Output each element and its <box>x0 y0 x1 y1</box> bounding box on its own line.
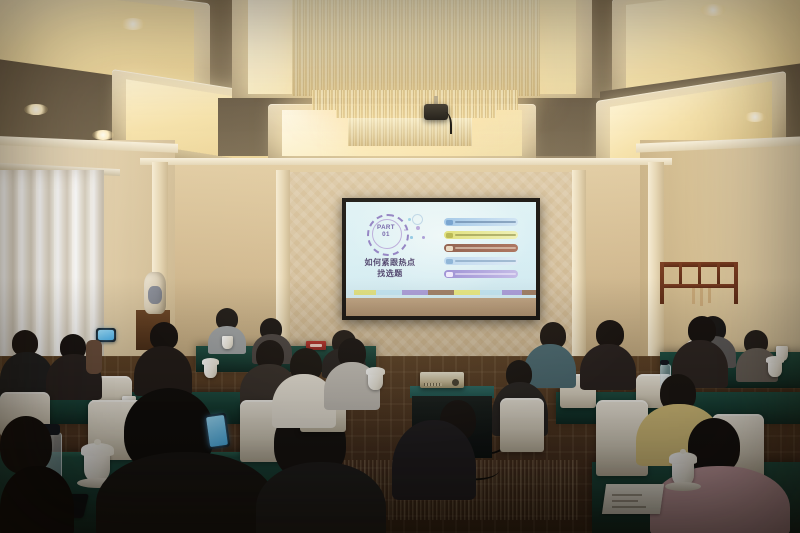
chandelier-crystals-tier3 <box>336 106 496 118</box>
slide-deco-dot-5 <box>404 229 406 231</box>
slide-item-text-4 <box>455 260 516 262</box>
slide-item-text-2 <box>455 234 516 236</box>
slide-list-item-5[interactable] <box>444 270 518 278</box>
screen-lower-panel <box>346 298 536 316</box>
projector-vent <box>424 383 442 386</box>
crystal-chandelier-main <box>292 0 540 96</box>
teacup-knob-foreground <box>94 439 101 445</box>
downlight-1 <box>120 18 146 30</box>
clothes-hanger-2[interactable] <box>700 288 703 306</box>
coat-rack-post-right <box>734 262 738 304</box>
crystal-chandelier-second <box>348 118 472 146</box>
teacup-lid-mid-right <box>766 356 784 363</box>
downlight-5 <box>744 112 766 122</box>
footer-bar-3 <box>376 290 402 295</box>
slide-item-badge-2 <box>446 233 453 238</box>
chandelier-sheen-second <box>348 118 472 146</box>
footer-bar-2 <box>354 290 376 295</box>
slide-list-item-1[interactable] <box>444 218 518 226</box>
attendee-mr1 <box>524 344 576 388</box>
teacup-knob-front-right <box>680 449 686 454</box>
saucer-front-right <box>665 482 701 491</box>
footer-bar-4 <box>402 290 428 295</box>
photographer-arm <box>86 340 102 374</box>
slide-item-text-5 <box>455 273 516 275</box>
chandelier-sheen <box>292 0 540 96</box>
slide-item-text-3 <box>455 247 516 249</box>
notebook-line-2 <box>612 500 638 502</box>
pilaster-screen-right <box>572 170 586 360</box>
slide-footer-bars <box>346 290 536 295</box>
coat-rack-post-left <box>660 262 664 304</box>
coat-rack-divider-1 <box>679 262 682 284</box>
teacup-lid-mid-left <box>202 358 219 365</box>
slide-item-badge-3 <box>446 246 453 251</box>
slide-list-item-4[interactable] <box>444 257 518 265</box>
projector-lens <box>452 379 459 386</box>
slide-part-number: 01 <box>372 232 400 239</box>
footer-bar-5 <box>428 290 454 295</box>
slide-deco-dot-3 <box>410 236 413 239</box>
wall-crown-back <box>140 158 672 165</box>
coat-rack-divider-2 <box>698 262 701 284</box>
notebook-line-3 <box>612 506 646 508</box>
footer-bar-8 <box>502 290 522 295</box>
downlight-2 <box>24 104 48 115</box>
teacup-lid-center-front <box>366 367 385 375</box>
slide-list-item-2[interactable] <box>444 231 518 239</box>
chandelier-tier-3 <box>336 106 496 118</box>
downlight-4 <box>700 4 726 16</box>
footer-bar-1 <box>346 290 354 295</box>
clothes-hanger-3[interactable] <box>708 288 711 303</box>
slide-item-badge-4 <box>446 259 453 264</box>
water-bottle-cap-mid-right <box>660 360 669 365</box>
slide-deco-dot-1 <box>408 218 411 221</box>
clothes-hanger-1[interactable] <box>692 288 695 304</box>
slide-deco-dot-4 <box>422 236 425 239</box>
slide-list-item-3[interactable] <box>444 244 518 252</box>
teacup-back-center[interactable] <box>222 336 233 349</box>
footer-bar-6 <box>454 290 480 295</box>
slide-deco-ring <box>412 214 423 225</box>
chair-right-of-projector[interactable] <box>500 398 544 452</box>
slide-item-badge-5 <box>446 272 453 277</box>
slide-item-badge-1 <box>446 220 453 225</box>
coat-rack-divider-3 <box>717 262 720 284</box>
open-notebook[interactable] <box>602 484 664 514</box>
slide-title-line1: 如何紧跟热点 <box>352 258 428 269</box>
name-placard-text <box>310 344 322 347</box>
conference-room-photo: PART 01 如何紧跟热点 找选题 <box>0 0 800 533</box>
downlight-3 <box>92 130 114 140</box>
vase-pattern <box>148 286 162 304</box>
slide-title-line2: 找选题 <box>352 269 428 280</box>
attendee-head-foreground-left <box>0 416 52 474</box>
notebook-line-1 <box>612 494 642 496</box>
coat-rack-mid-rail <box>660 284 738 288</box>
projection-screen[interactable]: PART 01 如何紧跟热点 找选题 <box>346 202 536 298</box>
footer-bar-9 <box>522 290 536 295</box>
footer-bar-7 <box>480 290 502 295</box>
slide-item-text-1 <box>455 221 516 223</box>
attendee-mr2 <box>580 344 636 390</box>
smartphone-screen-raised <box>98 330 114 340</box>
slide-deco-dot-2 <box>416 226 420 230</box>
